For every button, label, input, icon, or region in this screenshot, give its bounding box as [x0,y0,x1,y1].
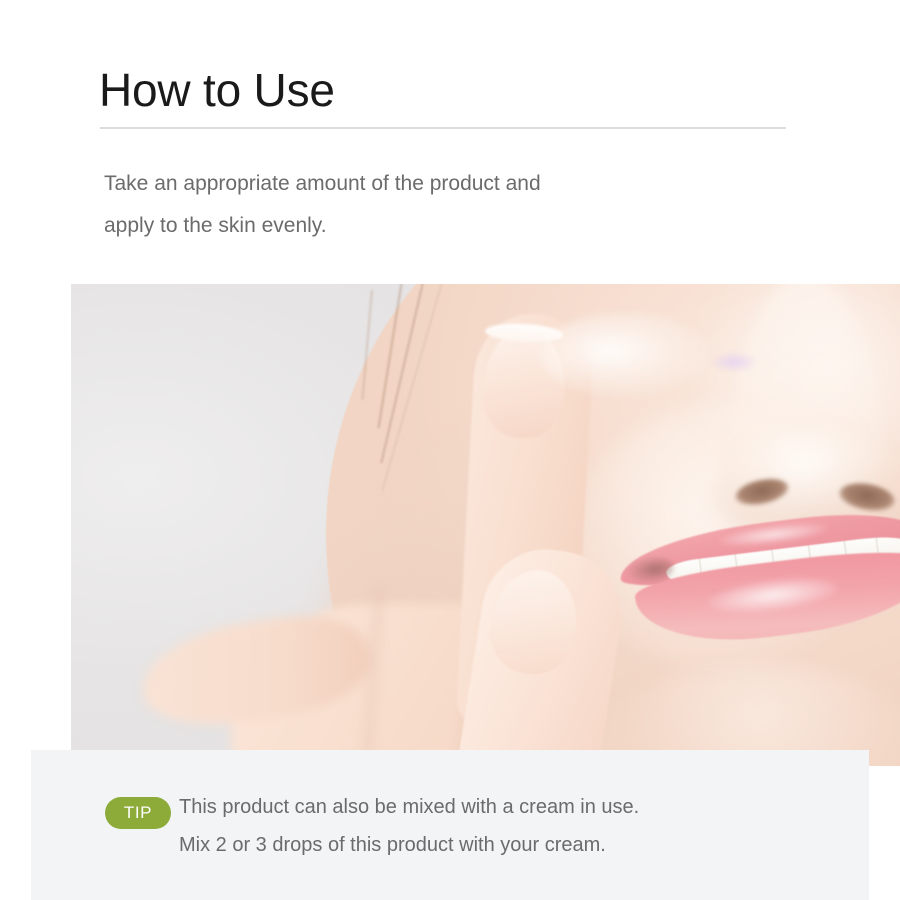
page-title: How to Use [99,64,335,117]
product-sheen [541,312,711,398]
how-to-use-page: How to Use Take an appropriate amount of… [0,0,900,900]
tip-badge: TIP [105,797,171,829]
tip-text: This product can also be mixed with a cr… [179,788,839,864]
usage-photo [71,284,900,766]
intro-line-1: Take an appropriate amount of the produc… [104,163,744,205]
intro-line-2: apply to the skin evenly. [104,205,744,247]
intro-paragraph: Take an appropriate amount of the produc… [104,163,744,247]
product-sparkle [711,352,757,372]
tip-line-1: This product can also be mixed with a cr… [179,788,839,826]
tip-band: TIP This product can also be mixed with … [31,750,869,900]
title-divider [100,127,786,129]
tip-line-2: Mix 2 or 3 drops of this product with yo… [179,826,839,864]
